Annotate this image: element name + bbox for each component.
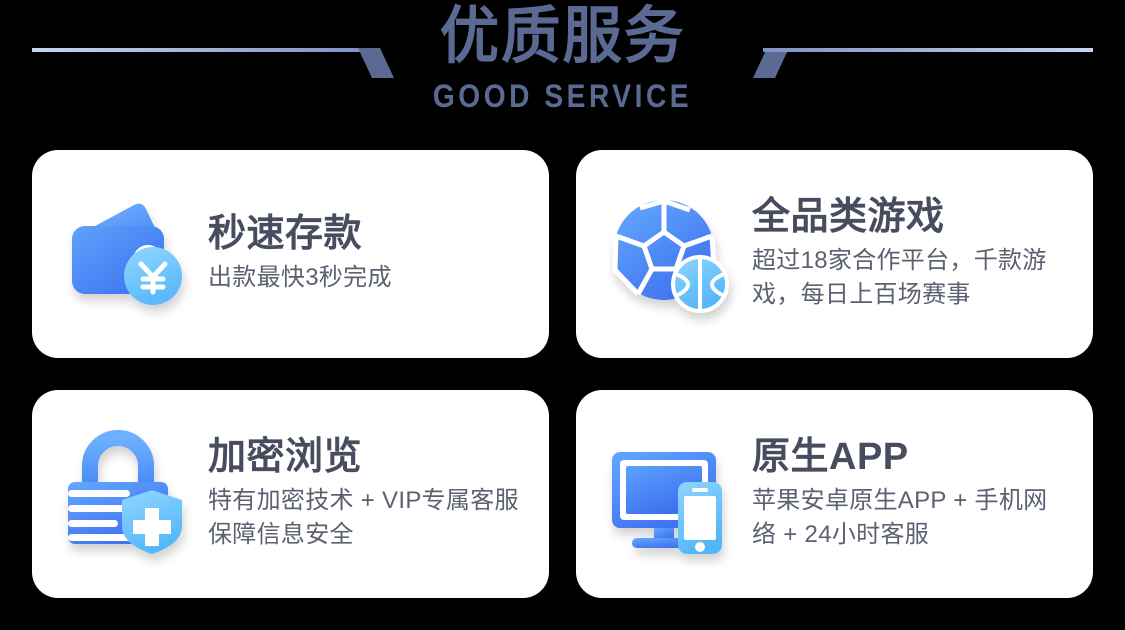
card-title: 加密浏览: [208, 436, 527, 479]
page-header: 优质服务 GOOD SERVICE: [0, 0, 1125, 150]
page-title: 优质服务: [23, 6, 1103, 68]
feature-card-deposit[interactable]: 秒速存款 出款最快3秒完成: [32, 150, 549, 358]
feature-card-encryption[interactable]: 加密浏览 特有加密技术 + VIP专属客服保障信息安全: [32, 390, 549, 598]
card-description: 特有加密技术 + VIP专属客服保障信息安全: [208, 484, 527, 552]
lock-shield-icon: [60, 426, 196, 562]
card-description: 出款最快3秒完成: [208, 261, 527, 295]
card-description: 苹果安卓原生APP + 手机网络 + 24小时客服: [752, 484, 1071, 552]
card-text-block: 原生APP 苹果安卓原生APP + 手机网络 + 24小时客服: [752, 436, 1071, 553]
card-description: 超过18家合作平台，千款游戏，每日上百场赛事: [752, 244, 1071, 312]
promo-page: 优质服务 GOOD SERVICE: [0, 0, 1125, 630]
feature-card-native-app[interactable]: 原生APP 苹果安卓原生APP + 手机网络 + 24小时客服: [576, 390, 1093, 598]
card-text-block: 加密浏览 特有加密技术 + VIP专属客服保障信息安全: [208, 436, 527, 553]
card-title: 全品类游戏: [752, 196, 1071, 239]
soccer-basketball-icon: [604, 186, 740, 322]
feature-card-grid: 秒速存款 出款最快3秒完成: [32, 150, 1093, 598]
feature-card-games[interactable]: 全品类游戏 超过18家合作平台，千款游戏，每日上百场赛事: [576, 150, 1093, 358]
wallet-yen-icon: [60, 186, 196, 322]
card-title: 原生APP: [752, 436, 1071, 479]
card-title: 秒速存款: [208, 213, 527, 256]
card-text-block: 全品类游戏 超过18家合作平台，千款游戏，每日上百场赛事: [752, 196, 1071, 313]
page-subtitle: GOOD SERVICE: [68, 80, 1058, 112]
card-text-block: 秒速存款 出款最快3秒完成: [208, 213, 527, 296]
monitor-phone-icon: [604, 426, 740, 562]
